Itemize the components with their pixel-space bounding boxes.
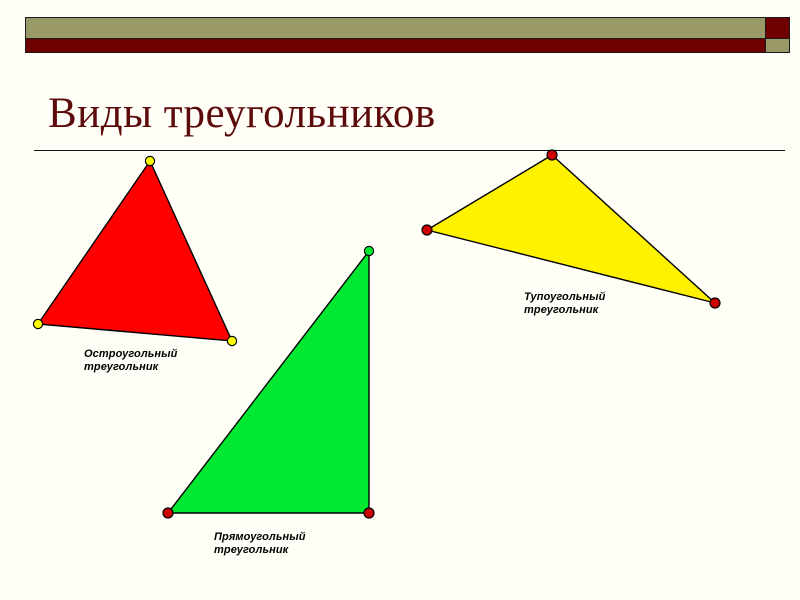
obtuse-triangle-vertex-dot [710,298,720,308]
acute-triangle-shape [38,161,232,341]
obtuse-triangle-shape [427,155,715,303]
acute-triangle-vertex-dot [227,336,236,345]
obtuse-triangle-vertex-dot [547,150,557,160]
acute-triangle-caption: Остроугольный треугольник [84,348,177,374]
acute-triangle-vertex-dot [33,319,42,328]
slide-canvas: Виды треугольников Остроугольный треугол… [0,0,800,600]
right-triangle-vertex-dot [163,508,173,518]
obtuse-triangle-caption: Тупоугольный треугольник [524,291,606,317]
obtuse-triangle-group [422,150,720,308]
right-triangle-vertex-dot [364,508,374,518]
right-triangle-vertex-dot [364,246,373,255]
acute-triangle-group [33,156,236,345]
acute-triangle-vertex-dot [145,156,154,165]
right-triangle-caption: Прямоугольный треугольник [214,531,306,557]
triangles-illustration [0,0,800,600]
obtuse-triangle-vertex-dot [422,225,432,235]
